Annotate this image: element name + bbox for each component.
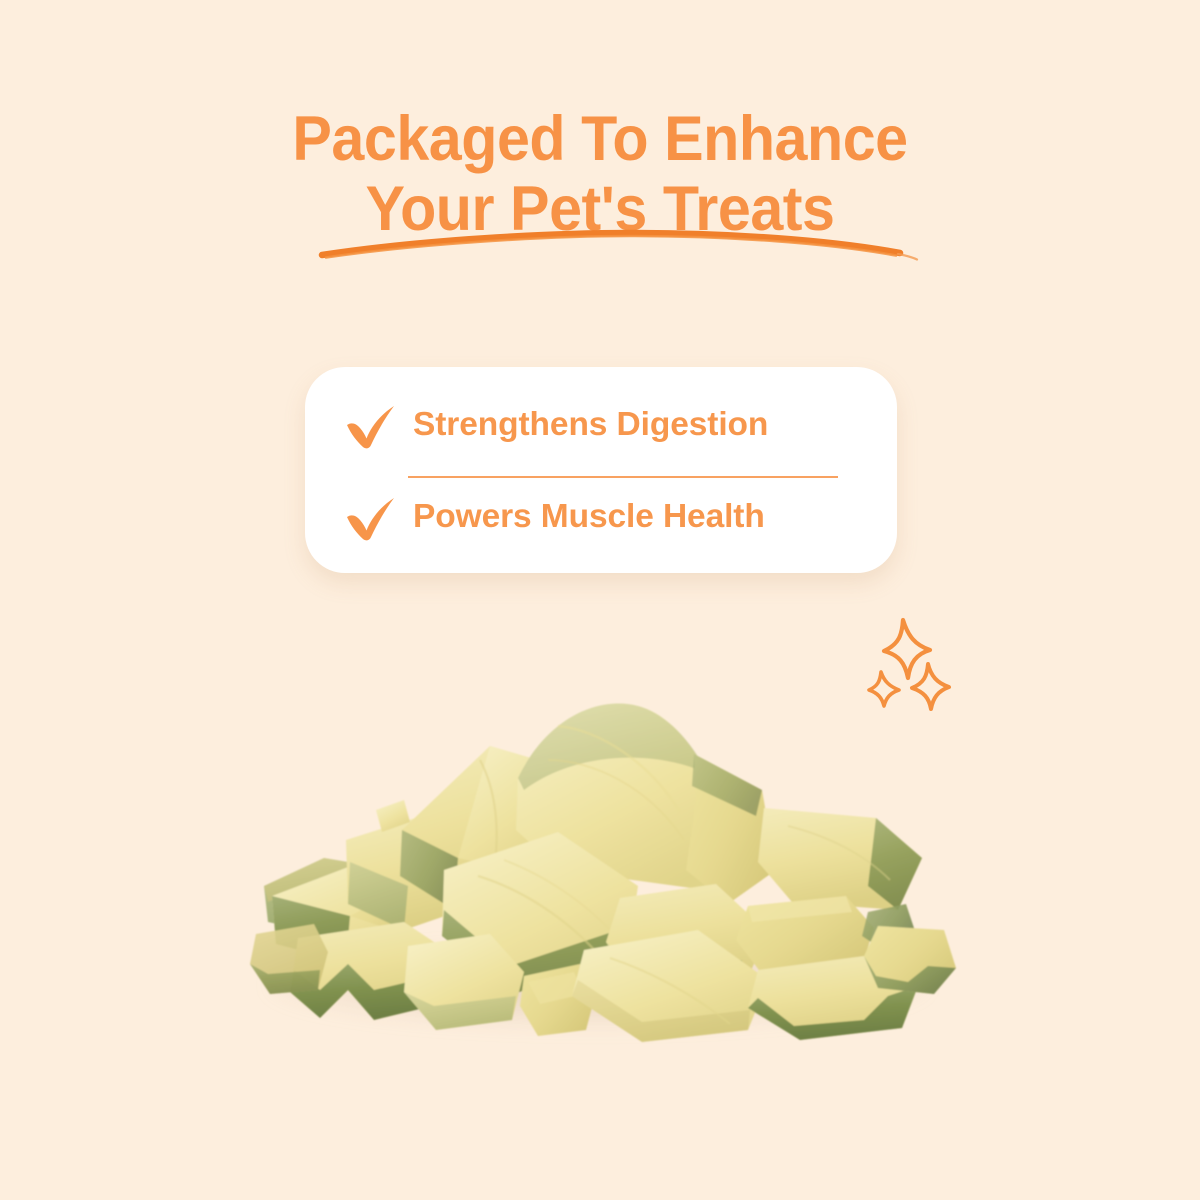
benefit-label: Powers Muscle Health (413, 498, 765, 536)
freeze-dried-squash-pile (228, 690, 988, 1070)
benefits-divider (408, 476, 838, 478)
page-title-line-1: Packaged To Enhance (36, 104, 1164, 174)
benefit-label: Strengthens Digestion (413, 406, 768, 444)
check-icon (341, 492, 403, 542)
benefit-item-powers-muscle-health[interactable]: Powers Muscle Health (305, 479, 897, 555)
product-image (228, 690, 988, 1070)
check-icon (341, 400, 403, 450)
page-title: Packaged To Enhance Your Pet's Treats (0, 104, 1200, 244)
benefits-card: Strengthens Digestion Powers Muscle Heal… (305, 367, 897, 573)
poster-canvas: Packaged To Enhance Your Pet's Treats St… (0, 0, 1200, 1200)
sparkle-star-icon (884, 620, 930, 678)
page-title-line-2: Your Pet's Treats (36, 174, 1164, 244)
benefit-item-strengthens-digestion[interactable]: Strengthens Digestion (305, 387, 897, 463)
